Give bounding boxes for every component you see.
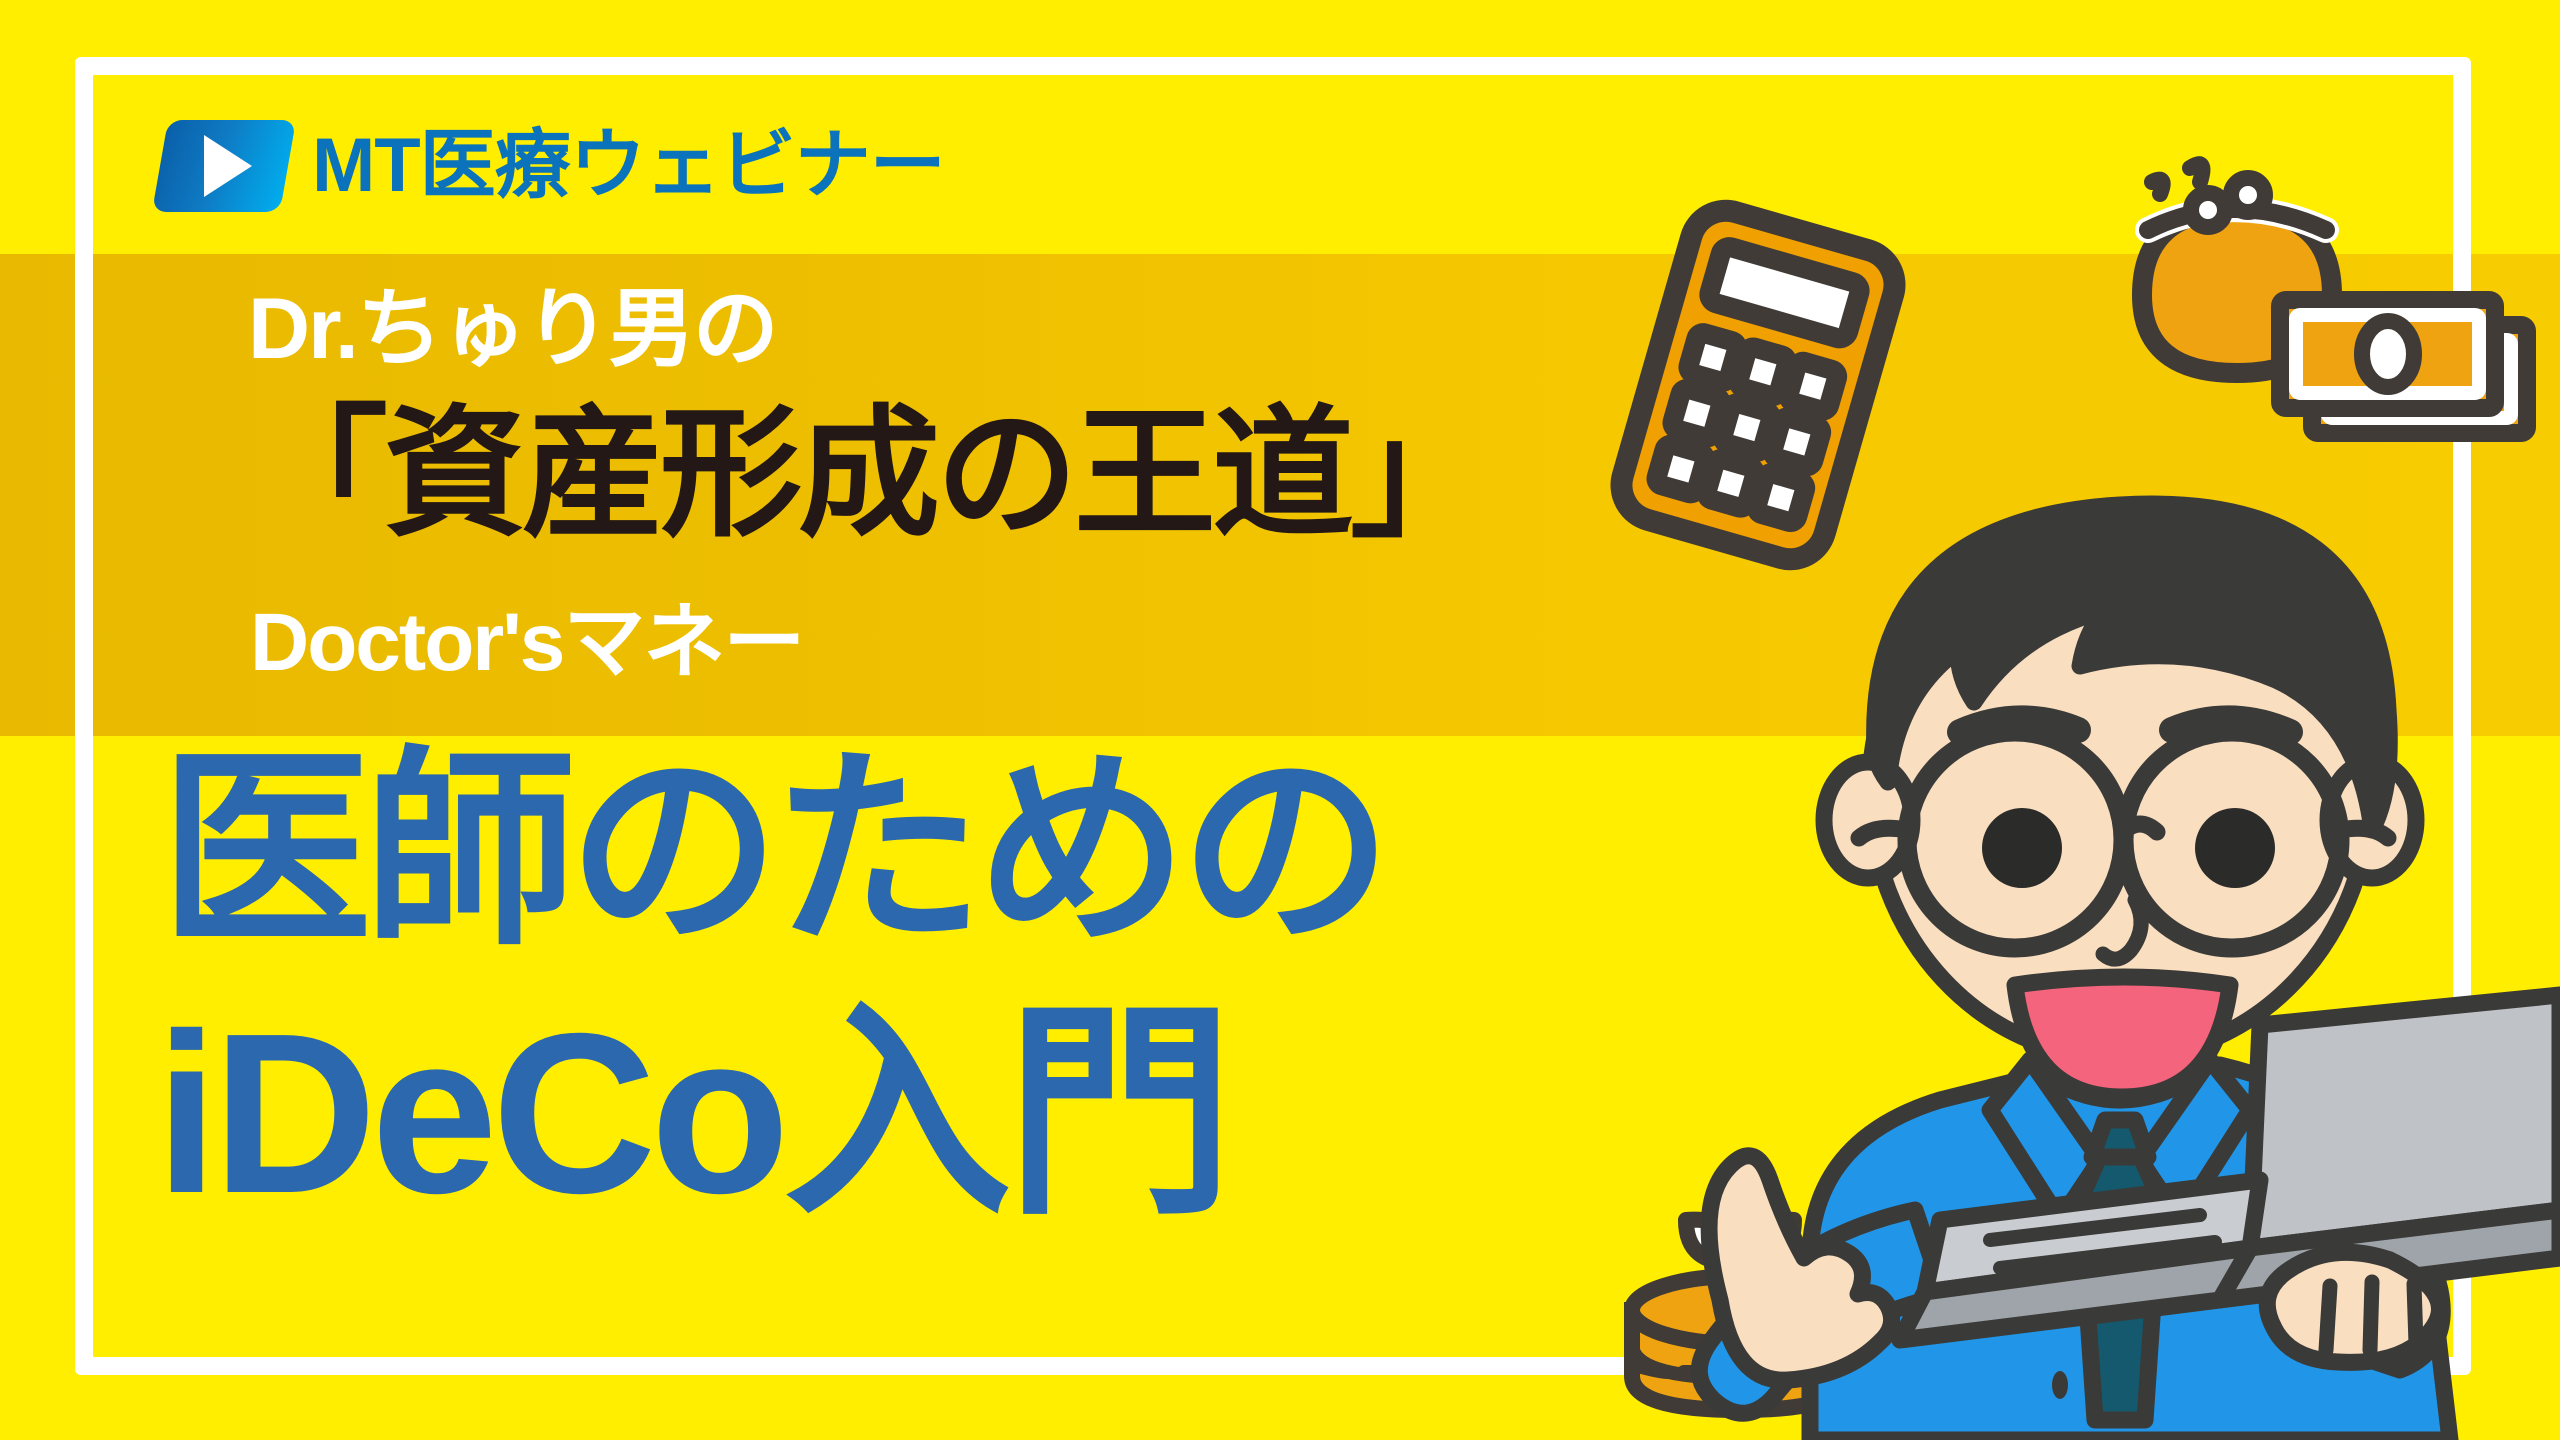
banknotes-illustration: [2280, 300, 2527, 433]
program-subtitle: Doctor'sマネー: [250, 602, 803, 684]
play-button-icon: [152, 120, 296, 212]
play-triangle-icon: [204, 135, 252, 197]
headline-line-2: iDeCo入門: [155, 1000, 1228, 1228]
presenter-line: Dr.ちゅり男の: [248, 286, 777, 372]
banner-canvas: MT医療ウェビナー Dr.ちゅり男の 「資産形成の王道」 Doctor'sマネー…: [0, 0, 2560, 1440]
coin-purse-illustration: [2130, 120, 2560, 470]
doctor-character-illustration: [1560, 420, 2560, 1440]
headline-line-1: 医師のための: [160, 745, 1384, 957]
brand-logo-text: MT医療ウェビナー: [312, 128, 945, 204]
brand-logo[interactable]: MT医療ウェビナー: [160, 120, 945, 212]
program-title: 「資産形成の王道」: [246, 400, 1488, 549]
